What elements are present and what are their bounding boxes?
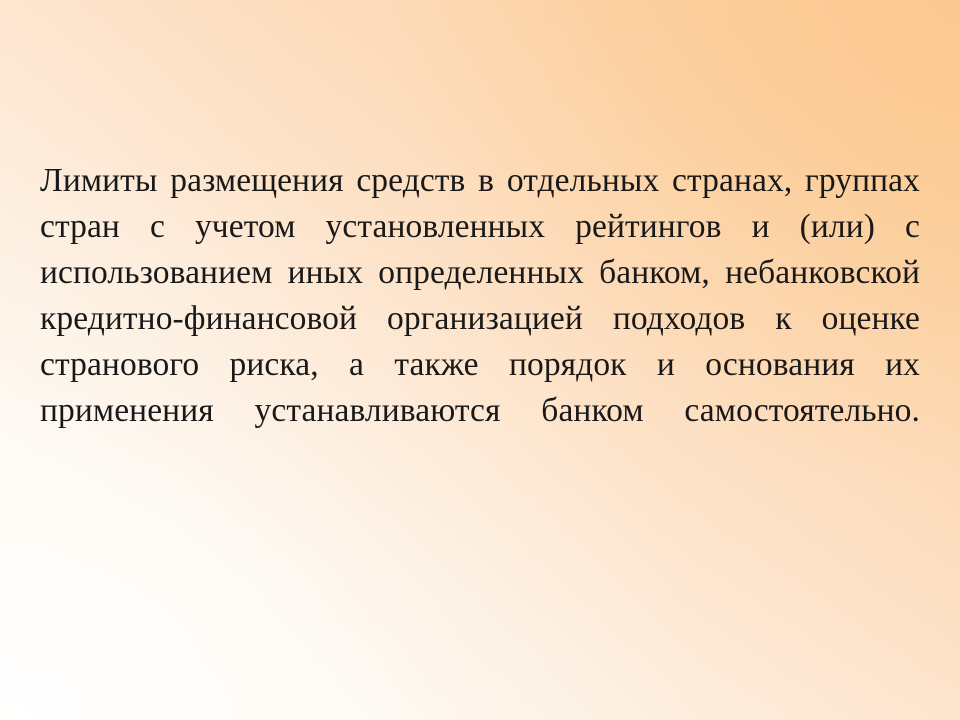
slide-content-area: Лимиты размещения средств в отдельных ст…: [0, 0, 960, 720]
presentation-slide: Лимиты размещения средств в отдельных ст…: [0, 0, 960, 720]
slide-body-paragraph: Лимиты размещения средств в отдельных ст…: [40, 158, 920, 480]
